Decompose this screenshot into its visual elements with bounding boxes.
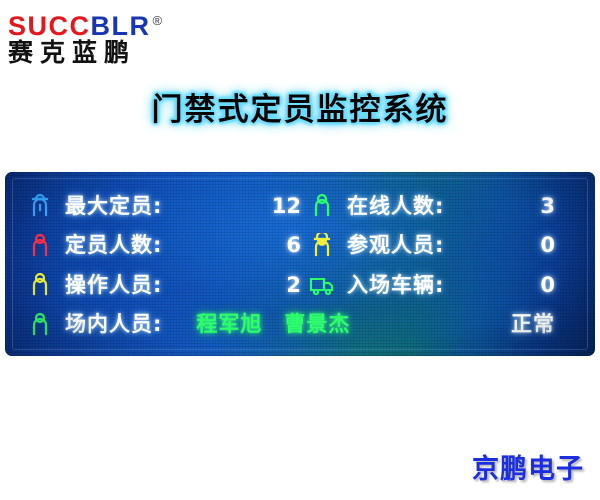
person-icon-onsite — [27, 310, 53, 338]
brand-wordmark-blr: BLR — [91, 11, 151, 41]
led-label-visitor-count: 参观人员: — [347, 233, 444, 257]
brand-wordmark: SUCCBLR® — [8, 6, 248, 36]
led-value-online-count: 3 — [444, 194, 577, 218]
person-helmet-icon — [309, 231, 335, 259]
person-icon-registered — [27, 231, 53, 259]
led-row-operator-count: 操作人员: 2 — [27, 265, 309, 305]
led-row-vehicle-count: 入场车辆: 0 — [309, 265, 577, 305]
led-row-registered-count: 定员人数: 6 — [27, 226, 309, 266]
brand-chinese-name: 赛克蓝鹏 — [8, 38, 248, 68]
list-item-name-1: 程军旭 — [196, 312, 262, 336]
list-item-name-2: 曹景杰 — [284, 312, 350, 336]
led-row-onsite-personnel: 场内人员: 程军旭曹景杰 正常 — [27, 305, 577, 345]
led-row-max-capacity: 最大定员: 12 — [27, 186, 309, 226]
registered-trademark-icon: ® — [153, 13, 163, 28]
led-label-operator-count: 操作人员: — [65, 273, 162, 297]
led-row-visitor-count: 参观人员: 0 — [309, 226, 577, 266]
brand-wordmark-succ: SUCC — [8, 11, 91, 41]
led-label-online-count: 在线人数: — [347, 194, 444, 218]
led-value-visitor-count: 0 — [444, 233, 577, 257]
onsite-personnel-names: 程军旭曹景杰 — [196, 312, 511, 336]
led-label-max-capacity: 最大定员: — [65, 194, 162, 218]
footer-watermark: 京鹏电子 — [472, 454, 584, 486]
led-value-operator-count: 2 — [162, 273, 309, 297]
led-label-vehicle-count: 入场车辆: — [347, 273, 444, 297]
person-icon-operator — [27, 271, 53, 299]
led-value-registered-count: 6 — [162, 233, 309, 257]
led-label-registered-count: 定员人数: — [65, 233, 162, 257]
led-display-panel: 最大定员: 12 在线人数: 3 — [5, 172, 595, 356]
status-badge: 正常 — [511, 312, 577, 336]
truck-icon — [309, 271, 335, 299]
led-content-grid: 最大定员: 12 在线人数: 3 — [5, 172, 595, 356]
led-value-max-capacity: 12 — [162, 194, 309, 218]
led-value-vehicle-count: 0 — [444, 273, 577, 297]
person-cap-icon — [27, 192, 53, 220]
led-row-online-count: 在线人数: 3 — [309, 186, 577, 226]
person-icon-online — [309, 192, 335, 220]
led-label-onsite-personnel: 场内人员: — [65, 312, 162, 336]
page-title: 门禁式定员监控系统 — [0, 88, 600, 132]
brand-logo: SUCCBLR® 赛克蓝鹏 — [8, 6, 248, 74]
